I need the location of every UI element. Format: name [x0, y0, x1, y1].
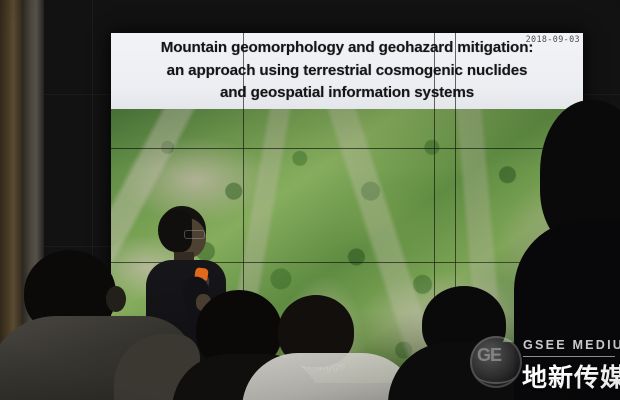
watermark-chinese-text: 地新传媒: [522, 358, 620, 394]
slide-title-line-2: an approach using terrestrial cosmogenic…: [111, 60, 583, 83]
photo-scene: Mountain geomorphology and geohazard mit…: [0, 0, 620, 400]
audience-member-white-shirt: [252, 295, 402, 400]
panel-seam-horizontal-1: [111, 148, 583, 149]
slide-title-band: Mountain geomorphology and geohazard mit…: [111, 33, 583, 109]
slide-title: Mountain geomorphology and geohazard mit…: [111, 37, 583, 105]
logo-arc: [475, 362, 517, 384]
audience-member-front-left: [0, 250, 196, 400]
audience-ear: [106, 286, 126, 312]
gsee-globe-logo-icon: GE: [470, 336, 522, 388]
broadcaster-watermark: GE GSEE MEDIUM 地新传媒: [470, 334, 620, 396]
presenter-glasses: [184, 230, 205, 239]
camera-timestamp: 2018-09-03: [526, 34, 580, 44]
slide-title-line-1: Mountain geomorphology and geohazard mit…: [111, 37, 583, 60]
watermark-divider: [523, 356, 615, 357]
slide-title-line-3: and geospatial information systems: [111, 82, 583, 105]
watermark-english-text: GSEE MEDIUM: [523, 338, 620, 352]
